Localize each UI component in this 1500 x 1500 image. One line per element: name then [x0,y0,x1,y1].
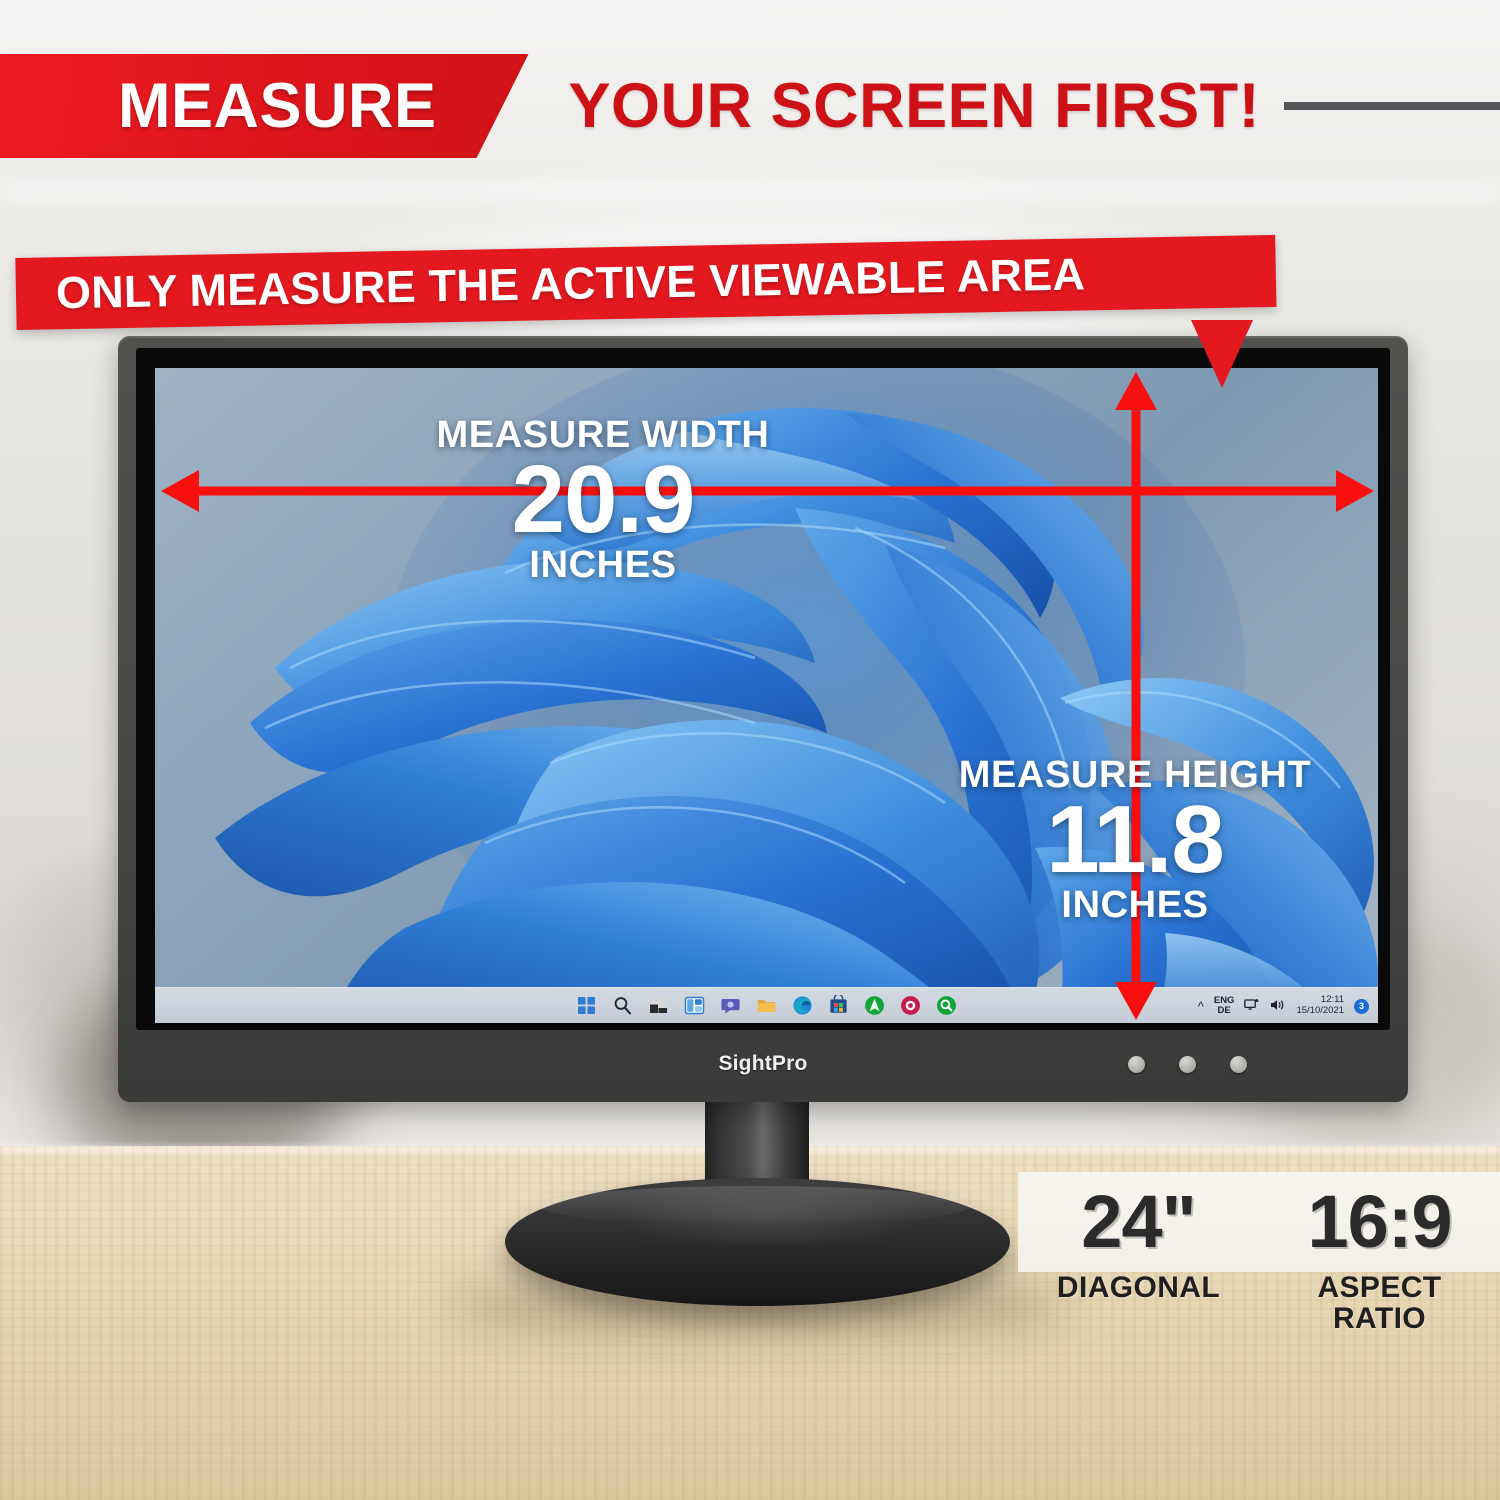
header-tag-label: MEASURE [118,70,437,142]
spec-diagonal-value-cell: 24" [1018,1185,1259,1259]
callout-banner: ONLY MEASURE THE ACTIVE VIEWABLE AREA [16,258,1276,330]
tray-clock[interactable]: 12:11 15/10/2021 [1296,995,1344,1016]
tray-overflow-chevron-icon[interactable]: ^ [1198,999,1204,1014]
task-view-icon[interactable] [648,995,669,1016]
header-title: YOUR SCREEN FIRST! [569,70,1261,142]
spec-values-row: 24" 16:9 [1018,1174,1500,1270]
edge-icon[interactable] [792,995,813,1016]
monitor-control-dot-3[interactable] [1230,1056,1247,1073]
monitor-control-buttons[interactable] [1128,1056,1247,1073]
header-banner: MEASURE YOUR SCREEN FIRST! [0,54,1500,158]
app-search-green-icon[interactable] [936,995,957,1016]
spec-aspect-value: 16:9 [1307,1180,1451,1263]
windows-taskbar[interactable]: ^ ENG DE [155,987,1378,1023]
spec-diagonal-label-cell: DIAGONAL [1018,1272,1259,1334]
monitor-control-dot-2[interactable] [1179,1056,1196,1073]
notification-badge[interactable]: 3 [1354,999,1369,1014]
system-tray: ^ ENG DE [1198,988,1369,1023]
header-red-tag: MEASURE [0,54,529,158]
app-green-icon[interactable] [864,995,885,1016]
spec-aspect-value-cell: 16:9 [1259,1185,1500,1259]
spec-aspect-label-line2: RATIO [1259,1303,1500,1334]
spec-aspect-label-cell: ASPECT RATIO [1259,1272,1500,1334]
chat-icon[interactable] [720,995,741,1016]
callout-pointer-arrow [1191,320,1253,388]
header-rule-divider [1284,102,1500,110]
background-wall-highlight [0,186,1500,212]
file-explorer-icon[interactable] [756,995,777,1016]
store-icon[interactable] [828,995,849,1016]
tray-network-icon[interactable] [1244,998,1260,1014]
spec-labels-row: DIAGONAL ASPECT RATIO [1018,1272,1500,1334]
monitor-stand-base-highlight [540,1186,970,1226]
spec-diagonal-label: DIAGONAL [1018,1272,1259,1303]
widgets-icon[interactable] [684,995,705,1016]
wallpaper-bloom-graphic [155,368,1378,1023]
spec-box: 24" 16:9 DIAGONAL ASPECT RATIO [1018,1160,1500,1330]
scene: ^ ENG DE [0,0,1500,1500]
start-icon[interactable] [576,995,597,1016]
spec-diagonal-value: 24" [1081,1180,1195,1263]
spec-aspect-label-line1: ASPECT [1259,1272,1500,1303]
monitor: ^ ENG DE [118,336,1408,1102]
monitor-control-dot-1[interactable] [1128,1056,1145,1073]
tray-date: 15/10/2021 [1296,1006,1344,1017]
search-icon[interactable] [612,995,633,1016]
taskbar-app-group [576,995,957,1016]
tray-volume-icon[interactable] [1270,998,1286,1014]
app-red-icon[interactable] [900,995,921,1016]
monitor-screen: ^ ENG DE [155,368,1378,1023]
tray-language-indicator[interactable]: ENG DE [1214,996,1235,1017]
tray-lang-line2: DE [1214,1006,1235,1016]
